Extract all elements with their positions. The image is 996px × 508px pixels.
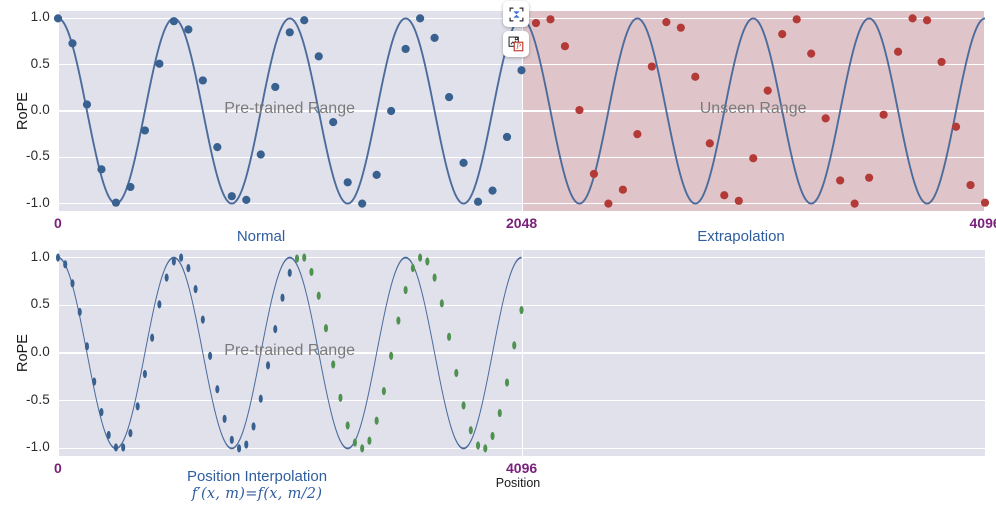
data-point-marker [454, 369, 458, 377]
data-point-marker [78, 308, 82, 316]
data-point-marker [194, 285, 198, 293]
data-point-marker [519, 306, 523, 314]
data-point-marker [764, 87, 772, 95]
data-point-marker [107, 431, 111, 439]
data-point-marker [836, 176, 844, 184]
data-point-marker [172, 257, 176, 265]
data-point-marker [793, 15, 801, 23]
data-point-marker [257, 150, 265, 158]
x-axis-title: Position [438, 476, 598, 490]
data-point-marker [402, 45, 410, 53]
data-point-marker [561, 42, 569, 50]
data-point-marker [367, 437, 371, 445]
data-point-marker [157, 300, 161, 308]
data-point-marker [375, 417, 379, 425]
data-point-marker [126, 183, 134, 191]
data-point-marker [280, 294, 284, 302]
data-point-marker [315, 52, 323, 60]
data-point-marker [213, 143, 221, 151]
data-point-marker [459, 159, 467, 167]
data-point-marker [498, 409, 502, 417]
data-point-marker [141, 126, 149, 134]
data-point-marker [244, 440, 248, 448]
x-tick-label: 4096 [970, 215, 996, 231]
region-label-pretrained-interpolation: Pre-trained Range [224, 342, 355, 360]
rope-position-interpolation-figure: Pre-trained Range Unseen Range RoPE 1.00… [0, 0, 996, 508]
data-point-marker [83, 100, 91, 108]
data-point-marker [165, 274, 169, 282]
data-point-marker [396, 316, 400, 324]
data-point-marker [201, 316, 205, 324]
data-point-marker [286, 28, 294, 36]
copy-plot-icon: P [508, 36, 524, 52]
data-point-marker [433, 274, 437, 282]
data-point-marker [309, 268, 313, 276]
y-tick-label: 0.5 [8, 56, 50, 71]
data-point-marker [648, 62, 656, 70]
data-point-marker [85, 342, 89, 350]
expand-icon-button[interactable] [503, 1, 529, 27]
axes-interpolation: Pre-trained Range [58, 250, 985, 456]
data-point-marker [469, 426, 473, 434]
data-point-marker [179, 254, 183, 262]
data-point-marker [382, 387, 386, 395]
data-point-marker [199, 76, 207, 84]
y-tick-label: 0.5 [8, 296, 50, 311]
data-point-marker [546, 15, 554, 23]
data-point-marker [128, 429, 132, 437]
data-point-marker [425, 257, 429, 265]
data-point-marker [358, 199, 366, 207]
caption-normal: Normal [121, 228, 401, 245]
data-point-marker [865, 174, 873, 182]
data-point-marker [488, 187, 496, 195]
data-point-marker [136, 402, 140, 410]
data-point-marker [807, 49, 815, 57]
data-point-marker [170, 17, 178, 25]
data-point-marker [215, 385, 219, 393]
caption-normal-text: Normal [237, 228, 285, 245]
data-point-marker [440, 299, 444, 307]
data-point-marker [416, 14, 424, 22]
data-point-marker [447, 333, 451, 341]
expand-icon [509, 7, 524, 22]
data-point-marker [503, 133, 511, 141]
data-point-marker [411, 264, 415, 272]
data-point-marker [387, 107, 395, 115]
data-point-marker [923, 16, 931, 24]
data-point-marker [259, 395, 263, 403]
data-point-marker [329, 118, 337, 126]
caption-extrapolation-text: Extrapolation [697, 228, 785, 245]
data-point-marker [430, 34, 438, 42]
data-point-marker [68, 39, 76, 47]
y-tick-label: 1.0 [8, 249, 50, 264]
data-point-marker [512, 341, 516, 349]
caption-extrapolation: Extrapolation [601, 228, 881, 245]
data-point-marker [295, 254, 299, 262]
data-point-marker [677, 24, 685, 32]
data-point-marker [937, 58, 945, 66]
data-point-marker [462, 401, 466, 409]
data-point-marker [894, 48, 902, 56]
data-point-marker [389, 352, 393, 360]
data-point-marker [63, 260, 67, 268]
data-point-marker [604, 199, 612, 207]
data-point-marker [966, 181, 974, 189]
data-point-marker [114, 443, 118, 451]
data-point-marker [251, 422, 255, 430]
data-point-marker [532, 19, 540, 27]
data-point-marker [483, 444, 487, 452]
data-point-marker [54, 14, 62, 22]
data-point-marker [404, 286, 408, 294]
data-point-marker [56, 254, 60, 262]
data-point-marker [271, 83, 279, 91]
data-point-marker [242, 196, 250, 204]
data-point-marker [237, 444, 241, 452]
data-point-marker [208, 352, 212, 360]
data-point-marker [590, 170, 598, 178]
data-point-marker [150, 334, 154, 342]
data-point-marker [505, 378, 509, 386]
data-point-marker [228, 192, 236, 200]
region-label-pretrained: Pre-trained Range [224, 100, 355, 118]
data-point-marker [474, 198, 482, 206]
data-point-marker [99, 408, 103, 416]
data-point-marker [517, 66, 525, 74]
data-point-marker [70, 279, 74, 287]
x-tick-label: 0 [54, 460, 62, 476]
data-point-marker [445, 93, 453, 101]
data-point-marker [633, 130, 641, 138]
data-point-marker [184, 25, 192, 33]
data-point-marker [373, 171, 381, 179]
data-point-marker [720, 191, 728, 199]
data-point-marker [952, 123, 960, 131]
data-point-marker [317, 292, 321, 300]
y-tick-label: -1.0 [8, 195, 50, 210]
y-tick-label: -0.5 [8, 148, 50, 163]
data-point-marker [735, 197, 743, 205]
data-point-marker [908, 14, 916, 22]
data-point-marker [706, 139, 714, 147]
svg-text:P: P [515, 43, 521, 51]
y-tick-label: -0.5 [8, 392, 50, 407]
caption-position-interpolation-formula: f′(x, m)=f(x, m/2) [117, 486, 397, 502]
data-point-marker [273, 325, 277, 333]
data-point-marker [288, 269, 292, 277]
data-point-marker [300, 16, 308, 24]
copy-plot-icon-button[interactable]: P [503, 31, 529, 57]
data-point-marker [324, 324, 328, 332]
data-point-marker [143, 370, 147, 378]
x-tick-label: 0 [54, 215, 62, 231]
data-point-marker [186, 264, 190, 272]
data-point-marker [344, 178, 352, 186]
data-point-marker [230, 436, 234, 444]
data-point-marker [822, 114, 830, 122]
gridline-vertical [522, 250, 523, 456]
data-point-marker [346, 421, 350, 429]
data-point-marker [619, 186, 627, 194]
data-point-marker [223, 415, 227, 423]
data-point-marker [353, 439, 357, 447]
data-point-marker [360, 444, 364, 452]
data-point-marker [981, 199, 989, 207]
y-tick-label: 1.0 [8, 9, 50, 24]
data-point-marker [778, 30, 786, 38]
x-tick-label: 2048 [506, 215, 537, 231]
data-point-marker [338, 394, 342, 402]
data-point-marker [331, 360, 335, 368]
data-point-marker [749, 154, 757, 162]
caption-position-interpolation-text: Position Interpolation [187, 468, 327, 485]
data-point-marker [92, 378, 96, 386]
data-point-marker [97, 165, 105, 173]
x-tick-label: 4096 [506, 460, 537, 476]
y-tick-label: 0.0 [8, 102, 50, 117]
region-label-unseen: Unseen Range [700, 100, 807, 118]
data-point-marker [121, 443, 125, 451]
data-point-marker [112, 199, 120, 207]
data-point-marker [266, 361, 270, 369]
data-point-marker [155, 60, 163, 68]
data-point-marker [490, 432, 494, 440]
data-point-marker [691, 73, 699, 81]
caption-position-interpolation: Position Interpolation f′(x, m)=f(x, m/2… [117, 468, 397, 502]
data-point-marker [662, 18, 670, 26]
data-point-marker [880, 111, 888, 119]
y-tick-label: -1.0 [8, 439, 50, 454]
data-point-marker [418, 254, 422, 262]
data-point-marker [851, 199, 859, 207]
data-point-marker [476, 441, 480, 449]
data-point-marker [302, 254, 306, 262]
data-point-marker [575, 106, 583, 114]
y-tick-label: 0.0 [8, 344, 50, 359]
